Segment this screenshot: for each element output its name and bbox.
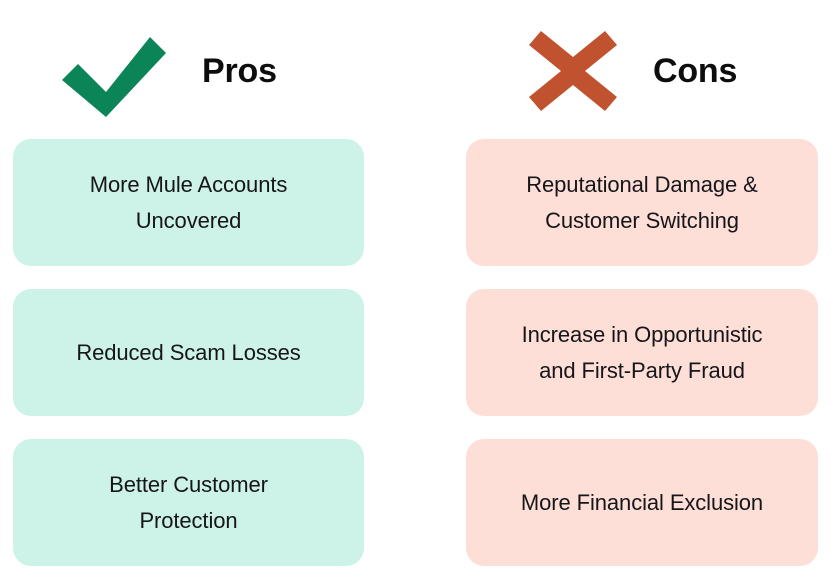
pros-header: Pros [56, 16, 277, 126]
pros-card-1: More Mule Accounts Uncovered [13, 139, 364, 266]
cons-column: Reputational Damage & Customer Switching… [466, 139, 818, 566]
pros-card-2-text: Reduced Scam Losses [76, 335, 300, 371]
cons-heading: Cons [653, 54, 737, 88]
pros-card-2: Reduced Scam Losses [13, 289, 364, 416]
cons-header: Cons [529, 16, 737, 126]
check-icon [56, 25, 166, 117]
pros-column: More Mule Accounts Uncovered Reduced Sca… [13, 139, 364, 566]
pros-heading: Pros [202, 54, 277, 88]
cons-card-3-text: More Financial Exclusion [521, 485, 763, 521]
cons-card-1-text: Reputational Damage & Customer Switching [526, 167, 758, 238]
pros-card-3: Better Customer Protection [13, 439, 364, 566]
cons-card-2: Increase in Opportunistic and First-Part… [466, 289, 818, 416]
cons-card-1: Reputational Damage & Customer Switching [466, 139, 818, 266]
cons-card-2-text: Increase in Opportunistic and First-Part… [522, 317, 763, 388]
cross-icon [529, 25, 617, 117]
pros-cons-comparison: Pros Cons More Mule Accounts Uncovered R… [0, 0, 837, 582]
pros-card-1-text: More Mule Accounts Uncovered [90, 167, 288, 238]
headers-row: Pros Cons [0, 0, 837, 130]
pros-card-3-text: Better Customer Protection [109, 467, 268, 538]
cons-card-3: More Financial Exclusion [466, 439, 818, 566]
